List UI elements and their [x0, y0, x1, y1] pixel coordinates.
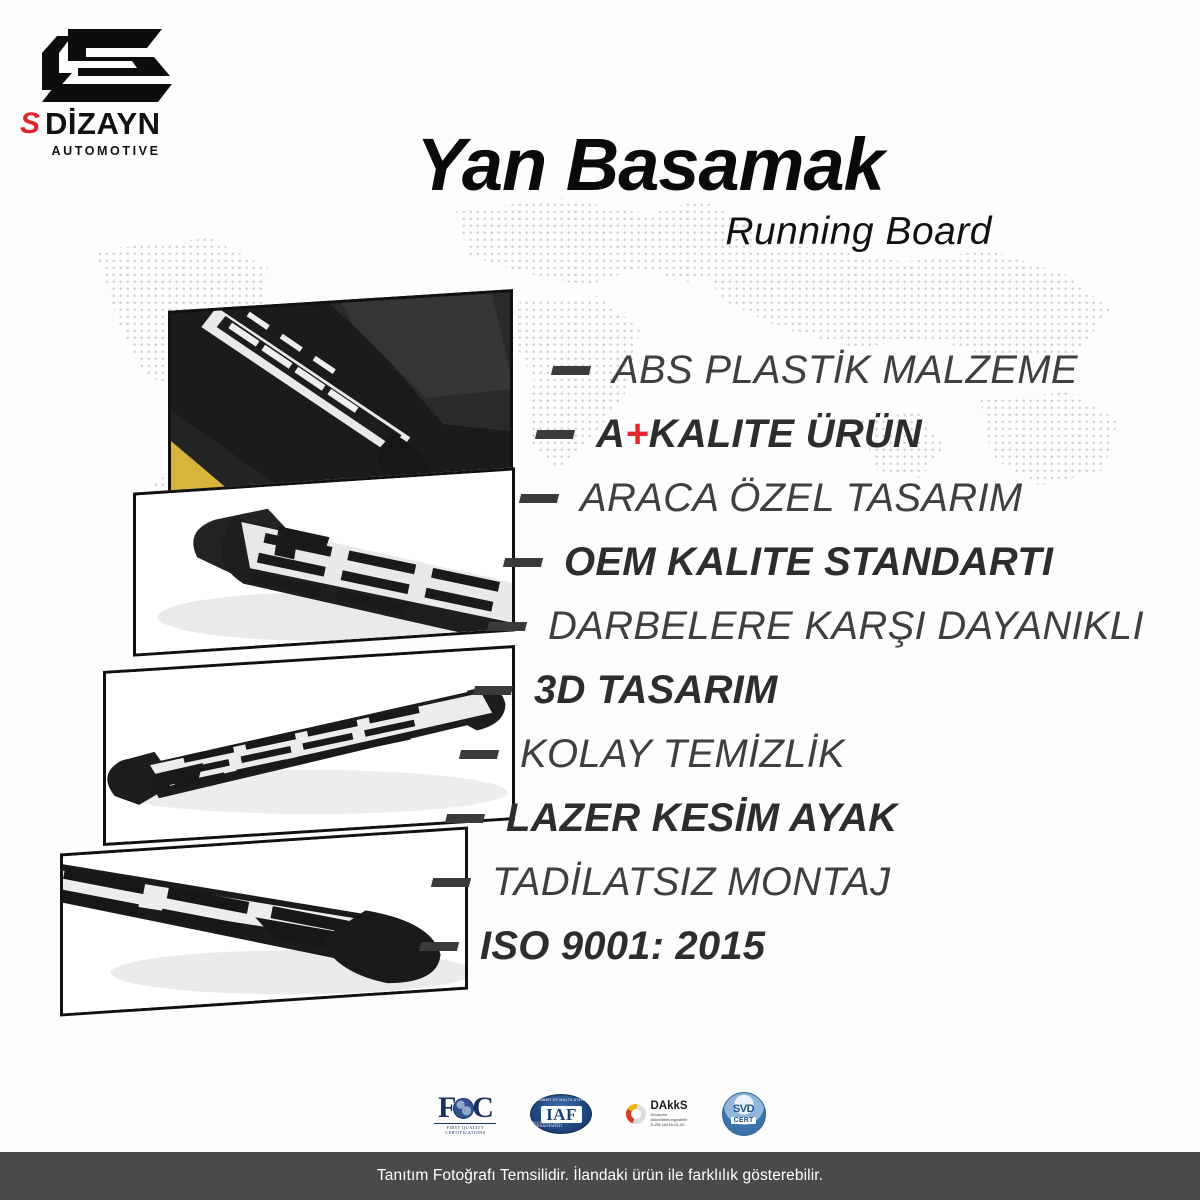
dakks-mark-icon [626, 1104, 646, 1124]
feature-label: LAZER KESİM AYAK [506, 798, 897, 838]
feature-item: DARBELERE KARŞI DAYANIKLI [420, 594, 1200, 658]
feature-label: ISO 9001: 2015 [480, 926, 765, 966]
bullet-dash-icon [445, 814, 485, 823]
feature-item: ISO 9001: 2015 [420, 914, 1200, 978]
running-board-end-cap-detail-image [60, 833, 468, 1014]
feature-item: KOLAY TEMİZLİK [420, 722, 1200, 786]
footer-disclaimer: Tanıtım Fotoğrafı Temsilidir. İlandaki ü… [377, 1167, 823, 1185]
feature-item: ABS PLASTİK MALZEME [420, 338, 1200, 402]
bullet-dash-icon [419, 942, 459, 951]
feature-label: OEM KALITE STANDARTI [564, 542, 1053, 582]
bullet-dash-icon [487, 622, 527, 631]
fqc-letters: F C [438, 1094, 493, 1121]
svd-cert-certification-logo: SVD CERT [722, 1092, 766, 1136]
bullet-dash-icon [473, 686, 513, 695]
dakks-line-3: D-ZM-16216-01-00 [650, 1122, 687, 1127]
feature-item: OEM KALITE STANDARTI [420, 530, 1200, 594]
bullet-dash-icon [503, 558, 543, 567]
brand-name: DİZAYN [45, 108, 161, 139]
globe-icon [453, 1098, 474, 1119]
bullet-dash-icon [431, 878, 471, 887]
iaf-bottom-text: RECOGNITION ARRANGEMENT [531, 1122, 591, 1129]
feature-suffix: KALITE ÜRÜN [649, 412, 922, 456]
svd-bottom-text: CERT [731, 1117, 757, 1124]
footer-bar: Tanıtım Fotoğrafı Temsilidir. İlandaki ü… [0, 1152, 1200, 1200]
feature-label: ABS PLASTİK MALZEME [612, 350, 1078, 390]
fqc-certification-logo: F C FIRST QUALITY CERTIFICATIONS [434, 1094, 496, 1135]
iaf-top-text: MEMBER OF MULTILATERAL [534, 1099, 590, 1103]
iaf-main-text: IAF [541, 1106, 582, 1123]
page-subtitle: Running Board [300, 212, 1000, 251]
feature-label: ARACA ÖZEL TASARIM [580, 478, 1023, 518]
bullet-dash-icon [551, 366, 591, 375]
feature-accent-plus: + [625, 412, 649, 456]
dakks-text-block: DAkkS Deutsche Akkreditierungsstelle D-Z… [650, 1101, 687, 1128]
bullet-dash-icon [459, 750, 499, 759]
feature-item: 3D TASARIM [420, 658, 1200, 722]
feature-item: LAZER KESİM AYAK [420, 786, 1200, 850]
feature-label: DARBELERE KARŞI DAYANIKLI [548, 606, 1144, 646]
feature-list: ABS PLASTİK MALZEME A+KALITE ÜRÜN ARACA … [420, 338, 1200, 978]
brand-badge-letter: S [20, 109, 39, 139]
feature-item: A+KALITE ÜRÜN [420, 402, 1200, 466]
bullet-dash-icon [535, 430, 575, 439]
brand-logo: S DİZAYN AUTOMOTIVE [18, 24, 218, 158]
fqc-subtitle: FIRST QUALITY CERTIFICATIONS [434, 1123, 496, 1135]
bullet-dash-icon [519, 494, 559, 503]
feature-item: TADİLATSIZ MONTAJ [420, 850, 1200, 914]
photo-panel-running-board-end-cap-detail [60, 826, 468, 1016]
svd-top-text: SVD [733, 1104, 754, 1115]
feature-label: KOLAY TEMİZLİK [520, 734, 845, 774]
feature-item: ARACA ÖZEL TASARIM [420, 466, 1200, 530]
brand-wordmark: S DİZAYN [18, 108, 218, 139]
s-monogram-logo-icon [34, 24, 186, 104]
page-title: Yan Basamak [300, 130, 1000, 200]
product-banner: S DİZAYN AUTOMOTIVE Yan Basamak Running … [0, 0, 1200, 1200]
iaf-certification-logo: MEMBER OF MULTILATERAL IAF RECOGNITION A… [530, 1094, 592, 1134]
dakks-name: DAkkS [650, 1101, 687, 1113]
certification-badges: F C FIRST QUALITY CERTIFICATIONS MEMBER … [0, 1092, 1200, 1136]
feature-prefix: A [596, 412, 625, 456]
feature-label: A+KALITE ÜRÜN [596, 414, 922, 454]
feature-label: 3D TASARIM [534, 670, 777, 710]
title-block: Yan Basamak Running Board [300, 130, 1000, 251]
brand-tagline: AUTOMOTIVE [26, 144, 186, 158]
dakks-certification-logo: DAkkS Deutsche Akkreditierungsstelle D-Z… [626, 1101, 687, 1128]
feature-label: TADİLATSIZ MONTAJ [492, 862, 890, 902]
fqc-letter-c: C [472, 1094, 493, 1121]
